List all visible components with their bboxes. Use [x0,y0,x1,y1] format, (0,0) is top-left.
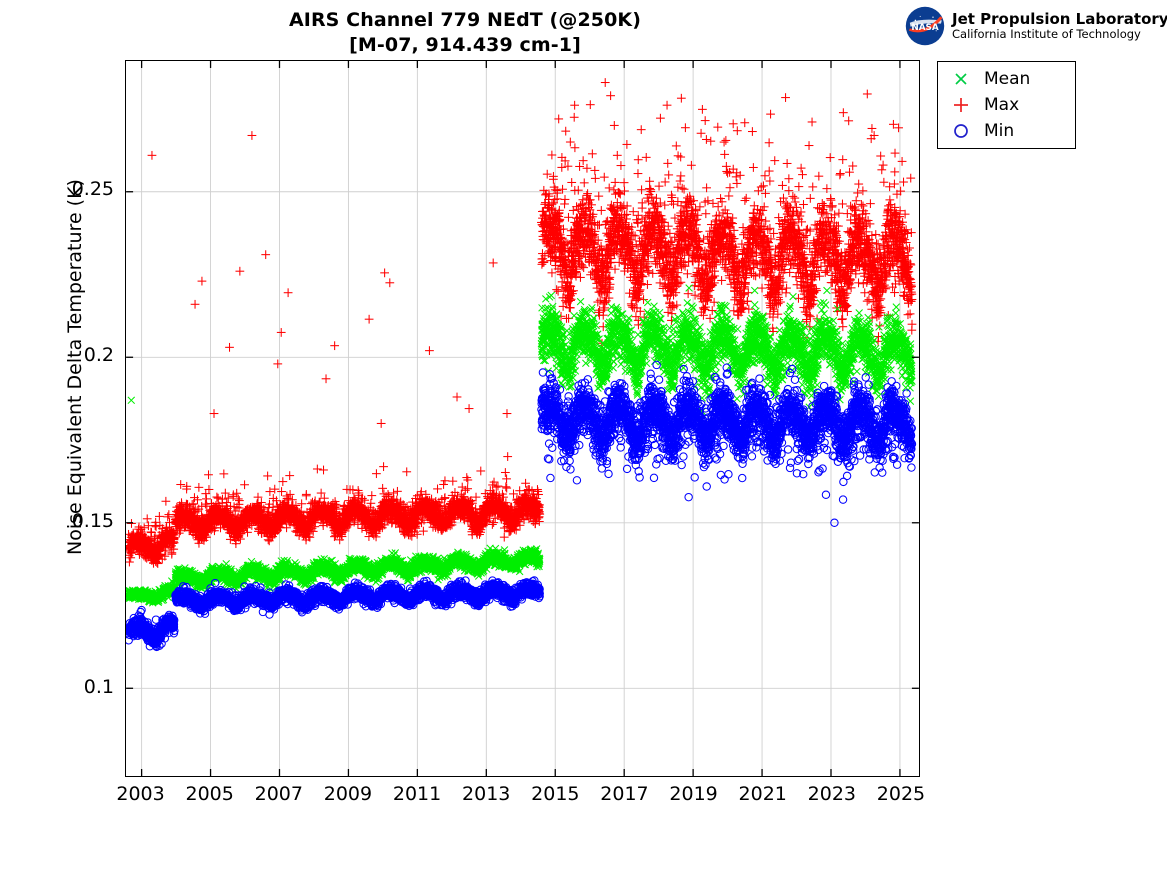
legend-marker-circle-icon [938,118,984,144]
x-tick-label: 2019 [654,783,734,805]
jpl-text-block: Jet Propulsion Laboratory California Ins… [952,11,1167,41]
nasa-meatball-icon: NASA [905,6,945,46]
x-tick-label: 2005 [170,783,250,805]
axis-ticks [126,61,919,776]
jpl-subtitle: California Institute of Technology [952,28,1167,41]
legend-label-mean: Mean [984,66,1030,92]
x-tick-label: 2023 [792,783,872,805]
chart-title-line-2: [M-07, 914.439 cm-1] [0,33,930,58]
x-tick-label: 2013 [446,783,526,805]
legend-item-mean: Mean [938,66,1075,92]
legend-label-max: Max [984,92,1019,118]
y-tick-label: 0.1 [44,676,114,698]
legend-marker-x-icon [938,66,984,92]
series-min [126,361,916,650]
jpl-title: Jet Propulsion Laboratory [952,11,1167,28]
y-tick-label: 0.25 [44,178,114,200]
x-tick-label: 2003 [101,783,181,805]
jpl-logo: NASA Jet Propulsion Laboratory Californi… [905,6,1157,46]
series-mean [126,285,915,607]
y-tick-label: 0.2 [44,344,114,366]
x-tick-label: 2009 [308,783,388,805]
page-title: AIRS Channel 779 NEdT (@250K) [M-07, 914… [0,8,930,58]
x-tick-label: 2017 [584,783,664,805]
legend-marker-plus-icon [938,92,984,118]
plot-area [125,60,920,777]
y-tick-label: 0.15 [44,510,114,532]
grid-lines [126,61,919,776]
x-tick-label: 2025 [861,783,941,805]
x-tick-label: 2021 [723,783,803,805]
legend-item-min: Min [938,118,1075,144]
x-tick-label: 2015 [515,783,595,805]
y-axis-label: Noise Equivalent Delta Temperature (K) [64,87,86,647]
x-tick-label: 2007 [239,783,319,805]
x-tick-label: 2011 [377,783,457,805]
scatter-data [126,61,919,776]
legend-item-max: Max [938,92,1075,118]
nasa-wordmark: NASA [911,23,939,33]
chart-legend: Mean Max Min [937,61,1076,149]
series-max [126,78,916,568]
legend-label-min: Min [984,118,1014,144]
chart-title-line-1: AIRS Channel 779 NEdT (@250K) [0,8,930,33]
